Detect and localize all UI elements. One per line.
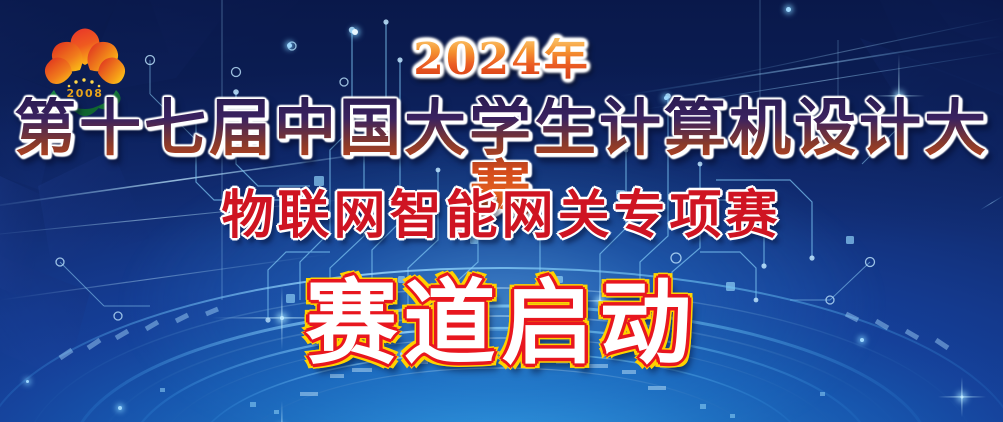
title-call-to-action: 赛道启动 [0, 278, 1003, 370]
glow-dot [352, 29, 358, 35]
banner-root: 2008 2024年 第十七届中国大学生计算机设计大赛 物联网智能网关专项赛 赛… [0, 0, 1003, 422]
glow-dot [786, 7, 791, 12]
glow-dot [26, 380, 29, 383]
title-subtitle: 物联网智能网关专项赛 [0, 190, 1003, 242]
glow-dot [118, 406, 122, 410]
title-year: 2024年 [0, 38, 1003, 82]
